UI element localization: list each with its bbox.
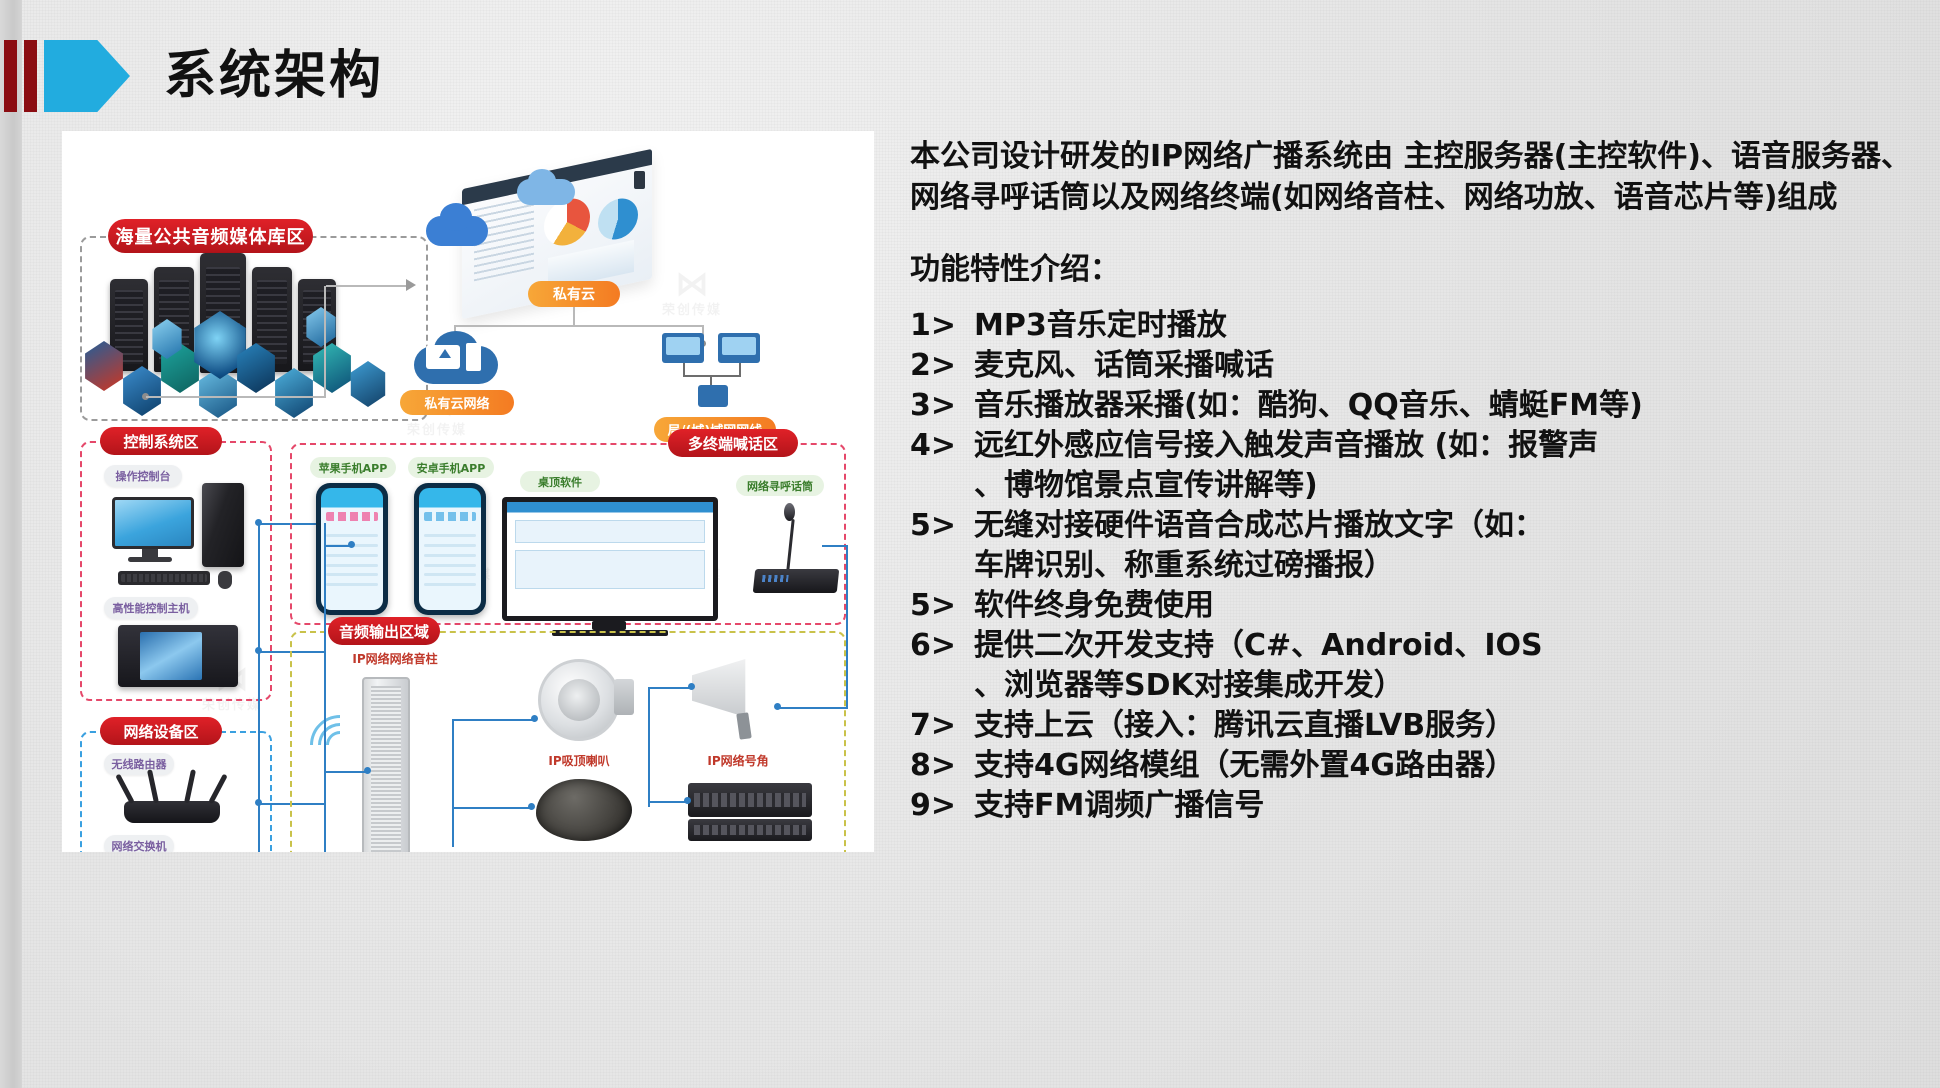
feature-number: 4>: [910, 426, 974, 466]
label-network-switch: 网络交换机: [104, 835, 174, 852]
feature-row: 7>支持上云（接入：腾讯云直播LVB服务）: [910, 706, 1920, 746]
label-operation-console: 操作控制台: [104, 465, 182, 487]
feature-number: 8>: [910, 746, 974, 786]
feature-text: 支持FM调频广播信号: [974, 786, 1920, 826]
lan-monitor-icon: [718, 333, 760, 363]
mouse-icon: [218, 571, 232, 589]
feature-text: 远红外感应信号接入触发声音播放 (如：报警声: [974, 426, 1920, 466]
zone-label-audio-output: 音频输出区域: [328, 617, 440, 645]
feature-number: 7>: [910, 706, 974, 746]
feature-row: 8>支持4G网络模组（无需外置4G路由器）: [910, 746, 1920, 786]
label-iphone-app: 苹果手机APP: [310, 457, 396, 478]
ip-sound-column-icon: [362, 677, 410, 852]
feature-number: 3>: [910, 386, 974, 426]
ip-amplifier-icon: [688, 783, 812, 817]
cloud-icon-main: [440, 203, 472, 231]
label-ip-ceiling-speaker: IP吸顶喇叭: [532, 749, 626, 771]
features-heading: 功能特性介绍：: [910, 244, 1920, 288]
slide-title-group: 系统架构: [0, 38, 384, 114]
arrow-head-icon: [406, 279, 416, 291]
feature-continuation: 、博物馆景点宣传讲解等): [910, 466, 1920, 506]
intro-paragraph: 本公司设计研发的IP网络广播系统由 主控服务器(主控软件)、语音服务器、网络寻呼…: [910, 136, 1920, 218]
zone-network-device-box: [80, 731, 272, 852]
title-bar-red-2: [24, 40, 37, 112]
feature-item: 9>支持FM调频广播信号: [910, 786, 1920, 826]
label-ip-sound-column: IP网络网络音柱: [340, 647, 450, 669]
feature-number: 9>: [910, 786, 974, 826]
ceiling-speaker-mount: [614, 679, 634, 715]
zone-label-media-library: 海量公共音频媒体库区: [108, 219, 313, 253]
label-private-cloud: 私有云: [528, 281, 620, 307]
feature-row: 2>麦克风、话筒采播喊话: [910, 346, 1920, 386]
page-title: 系统架构: [164, 50, 384, 102]
lawn-rock-speaker-icon: [536, 779, 632, 841]
feature-number: 6>: [910, 626, 974, 666]
industrial-pc-icon: [118, 625, 238, 687]
feature-text: 麦克风、话筒采播喊话: [974, 346, 1920, 386]
features-list: 1>MP3音乐定时播放2>麦克风、话筒采播喊话3>音乐播放器采播(如：酷狗、QQ…: [910, 306, 1920, 826]
zone-label-control-system: 控制系统区: [100, 427, 222, 455]
wireless-router-icon: [124, 801, 220, 823]
feature-text: MP3音乐定时播放: [974, 306, 1920, 346]
label-ip-horn-speaker: IP网络号角: [694, 749, 782, 771]
android-app-screen: [414, 483, 486, 615]
paging-microphone-icon: [753, 569, 840, 593]
zone-label-network-device: 网络设备区: [100, 717, 222, 745]
phone-icon: [634, 171, 645, 189]
left-decor-band: [0, 0, 22, 1088]
title-arrow-icon: [44, 40, 130, 112]
label-android-app: 安卓手机APP: [408, 457, 494, 478]
feature-item: 6>提供二次开发支持（C#、Android、IOS、浏览器等SDK对接集成开发）: [910, 626, 1920, 706]
feature-item: 5>无缝对接硬件语音合成芯片播放文字（如：车牌识别、称重系统过磅播报）: [910, 506, 1920, 586]
feature-row: 3>音乐播放器采播(如：酷狗、QQ音乐、蜻蜓FM等): [910, 386, 1920, 426]
feature-text: 音乐播放器采播(如：酷狗、QQ音乐、蜻蜓FM等): [974, 386, 1920, 426]
pc-tower-icon: [202, 483, 244, 567]
feature-item: 8>支持4G网络模组（无需外置4G路由器）: [910, 746, 1920, 786]
zone-label-multi-terminal: 多终端喊话区: [668, 429, 798, 457]
lan-node-icon: [698, 385, 728, 407]
label-ip-amplifier: IP网络功放: [696, 847, 780, 852]
feature-continuation: 车牌识别、称重系统过磅播报）: [910, 546, 1920, 586]
feature-number: 1>: [910, 306, 974, 346]
feature-item: 7>支持上云（接入：腾讯云直播LVB服务）: [910, 706, 1920, 746]
desktop-software-display: [502, 497, 718, 621]
desktop-monitor-icon: [112, 497, 194, 549]
lan-monitor-icon: [662, 333, 704, 363]
feature-row: 5>无缝对接硬件语音合成芯片播放文字（如：: [910, 506, 1920, 546]
keyboard-icon: [118, 571, 210, 585]
label-desktop-software: 桌顶软件: [520, 471, 600, 492]
feature-text: 支持上云（接入：腾讯云直播LVB服务）: [974, 706, 1920, 746]
feature-item: 5>软件终身免费使用: [910, 586, 1920, 626]
ip-amplifier-icon: [688, 819, 812, 841]
feature-number: 2>: [910, 346, 974, 386]
upload-arrow-icon: [439, 349, 451, 358]
feature-row: 4>远红外感应信号接入触发声音播放 (如：报警声: [910, 426, 1920, 466]
feature-row: 9>支持FM调频广播信号: [910, 786, 1920, 826]
ip-ceiling-speaker-icon: [538, 659, 620, 741]
feature-text-panel: 本公司设计研发的IP网络广播系统由 主控服务器(主控软件)、语音服务器、网络寻呼…: [910, 136, 1920, 826]
iphone-app-screen: [316, 483, 388, 615]
title-bar-red-1: [4, 40, 17, 112]
watermark: ⋈荣创传媒: [662, 266, 722, 318]
architecture-diagram: ⋈荣创传媒 ⋈荣创传媒 ⋈荣创传媒 ⋈荣创传媒 ⋈荣创传媒 海量公共音频媒体库区: [62, 131, 874, 852]
label-high-perf-host: 高性能控制主机: [104, 597, 198, 619]
feature-continuation: 、浏览器等SDK对接集成开发）: [910, 666, 1920, 706]
feature-item: 4>远红外感应信号接入触发声音播放 (如：报警声、博物馆景点宣传讲解等): [910, 426, 1920, 506]
feature-row: 1>MP3音乐定时播放: [910, 306, 1920, 346]
feature-row: 5>软件终身免费使用: [910, 586, 1920, 626]
feature-number: 5>: [910, 506, 974, 546]
feature-text: 无缝对接硬件语音合成芯片播放文字（如：: [974, 506, 1920, 546]
server-glyph-icon: [466, 343, 481, 371]
feature-text: 软件终身免费使用: [974, 586, 1920, 626]
label-network-paging-mic: 网络寻呼话筒: [736, 475, 824, 496]
feature-item: 3>音乐播放器采播(如：酷狗、QQ音乐、蜻蜓FM等): [910, 386, 1920, 426]
feature-number: 5>: [910, 586, 974, 626]
feature-row: 6>提供二次开发支持（C#、Android、IOS: [910, 626, 1920, 666]
feature-text: 支持4G网络模组（无需外置4G路由器）: [974, 746, 1920, 786]
feature-item: 2>麦克风、话筒采播喊话: [910, 346, 1920, 386]
feature-text: 提供二次开发支持（C#、Android、IOS: [974, 626, 1920, 666]
label-lawn-speaker: 网络草坪音箱: [530, 847, 634, 852]
label-private-cloud-network: 私有云网络: [400, 390, 514, 415]
cloud-icon: [528, 169, 556, 193]
feature-item: 1>MP3音乐定时播放: [910, 306, 1920, 346]
label-wireless-router: 无线路由器: [104, 753, 174, 775]
